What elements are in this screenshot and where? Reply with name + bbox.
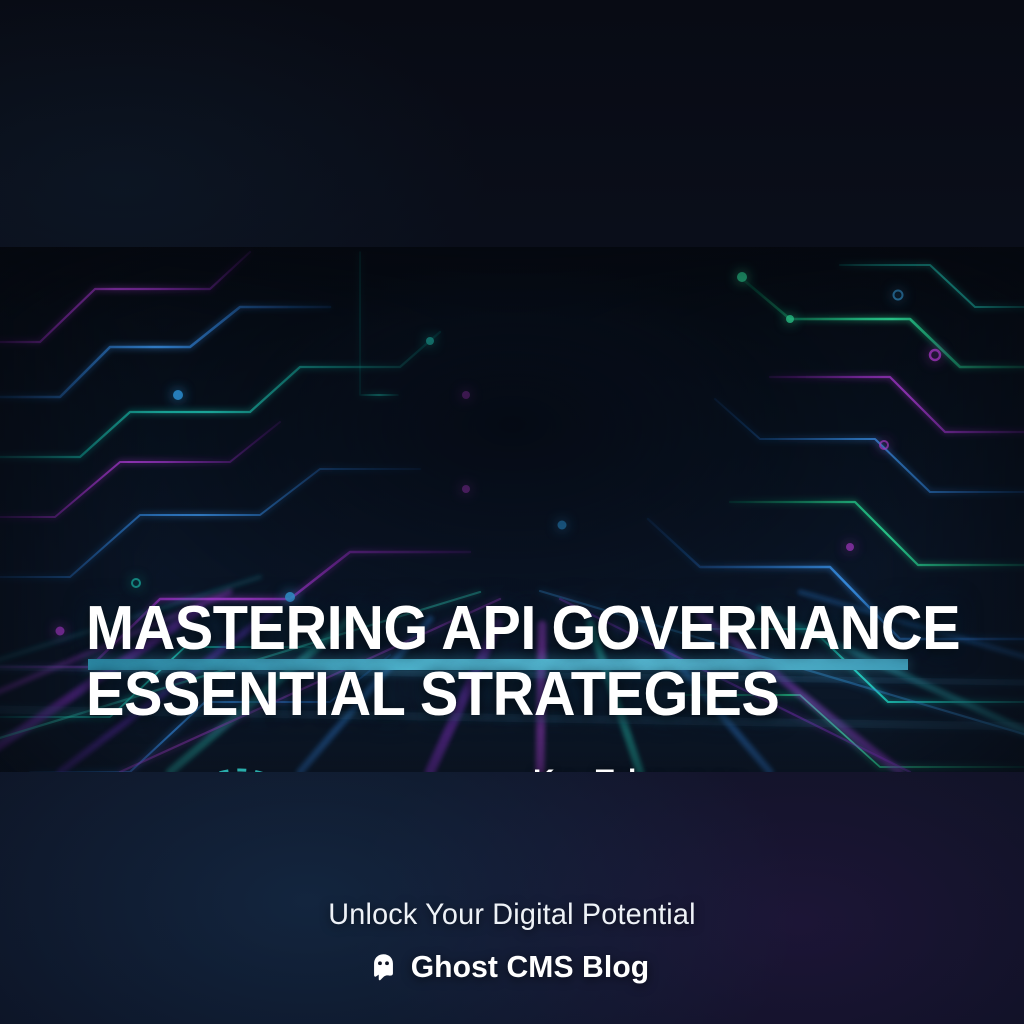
- page-title-line-1: MASTERING API GOVERNANCE: [86, 599, 904, 659]
- hero-banner: MASTERING API GOVERNANCE ESSENTIAL STRAT…: [0, 247, 1024, 772]
- footer-tagline: Unlock Your Digital Potential: [20, 898, 1003, 932]
- dashed-outer-ring: [163, 770, 317, 772]
- banner-title-block: MASTERING API GOVERNANCE ESSENTIAL STRAT…: [86, 599, 966, 725]
- footer-brand-name: Ghost CMS Blog: [411, 949, 650, 985]
- key-takeaways-block: Key Takaways: 1. STANDADIZATION 2. SECUR…: [533, 765, 953, 772]
- page-title-line-2: ESSENTIAL STRATEGIES: [86, 665, 904, 725]
- api-lifecycle-shield-icon: API: [152, 759, 328, 772]
- poster-canvas: MASTERING API GOVERNANCE ESSENTIAL STRAT…: [0, 0, 1024, 1024]
- ghost-icon: [371, 953, 396, 981]
- footer-brand-row: Ghost CMS Blog: [0, 949, 1024, 985]
- takeaways-heading: Key Takaways:: [533, 765, 953, 772]
- footer-block: Unlock Your Digital Potential Ghost CMS …: [0, 898, 1024, 985]
